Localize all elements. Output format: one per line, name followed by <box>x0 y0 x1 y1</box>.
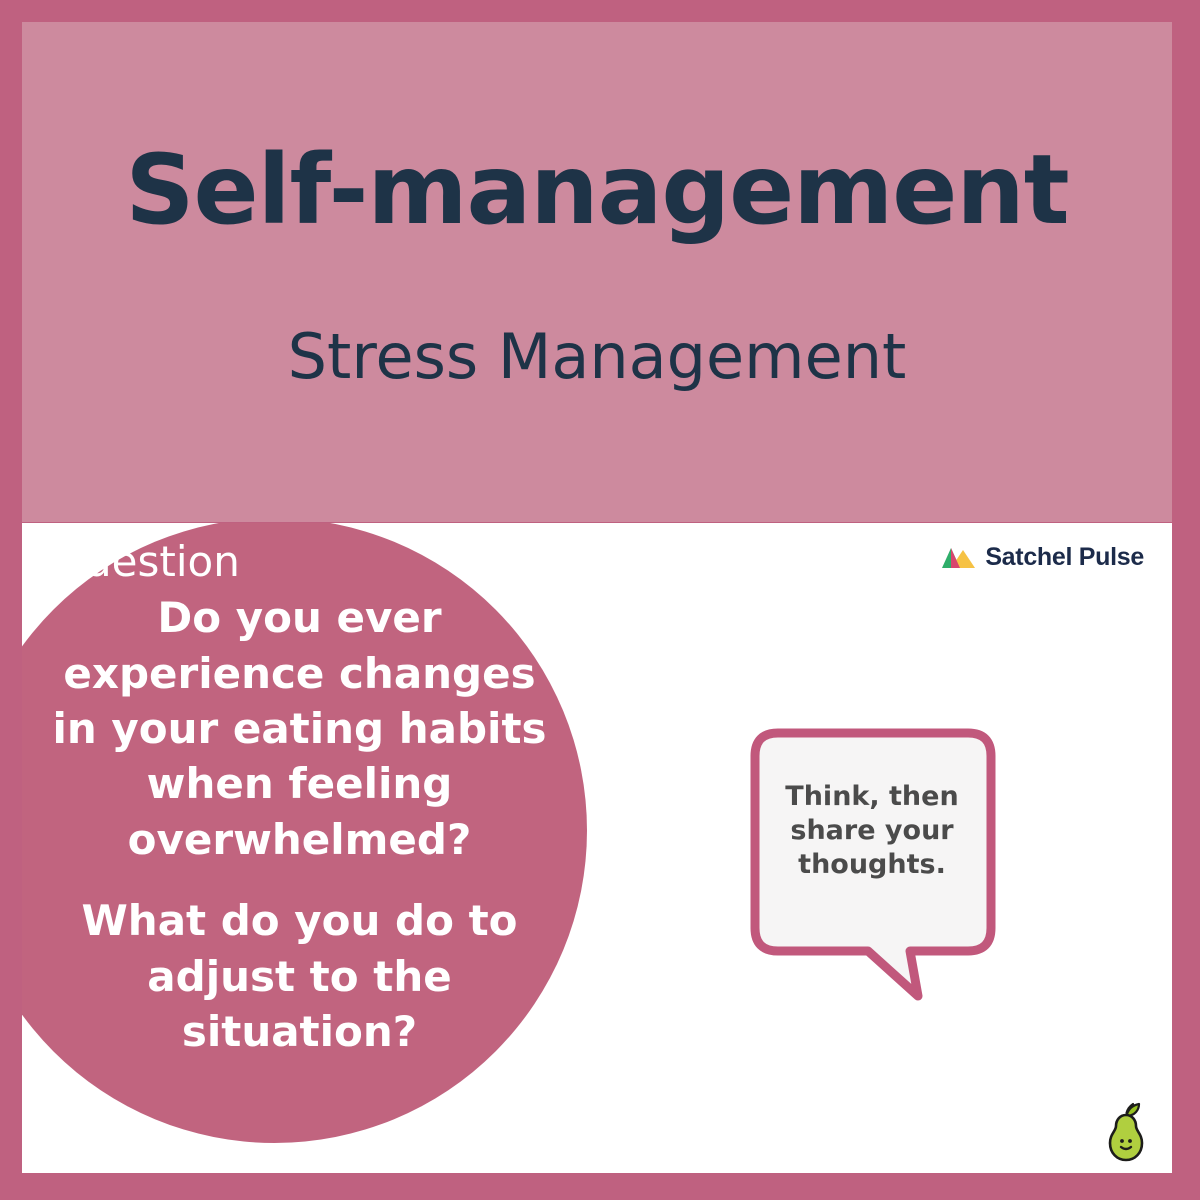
slide-root: Self-management Stress Management Questi… <box>0 0 1200 1200</box>
page-subtitle: Stress Management <box>288 326 907 388</box>
question-circle: Question Do you ever experience changes … <box>22 523 587 1143</box>
question-text-secondary: What do you do to adjust to the situatio… <box>52 893 547 1059</box>
slide-header-band: Self-management Stress Management <box>22 22 1172 522</box>
speech-bubble-text: Think, then share your thoughts. <box>762 780 982 882</box>
question-text-primary: Do you ever experience changes in your e… <box>52 590 547 867</box>
page-title: Self-management <box>125 142 1068 238</box>
brand-logo: Satchel Pulse <box>941 545 1144 570</box>
satchel-pulse-mark-icon <box>941 546 977 570</box>
pear-icon <box>1098 1101 1154 1163</box>
question-content: Question Do you ever experience changes … <box>22 523 587 1143</box>
slide-content-area: Question Do you ever experience changes … <box>22 523 1172 1173</box>
brand-name: Satchel Pulse <box>985 545 1144 570</box>
question-label: Question <box>52 540 547 584</box>
speech-bubble: Think, then share your thoughts. <box>750 728 1020 1013</box>
